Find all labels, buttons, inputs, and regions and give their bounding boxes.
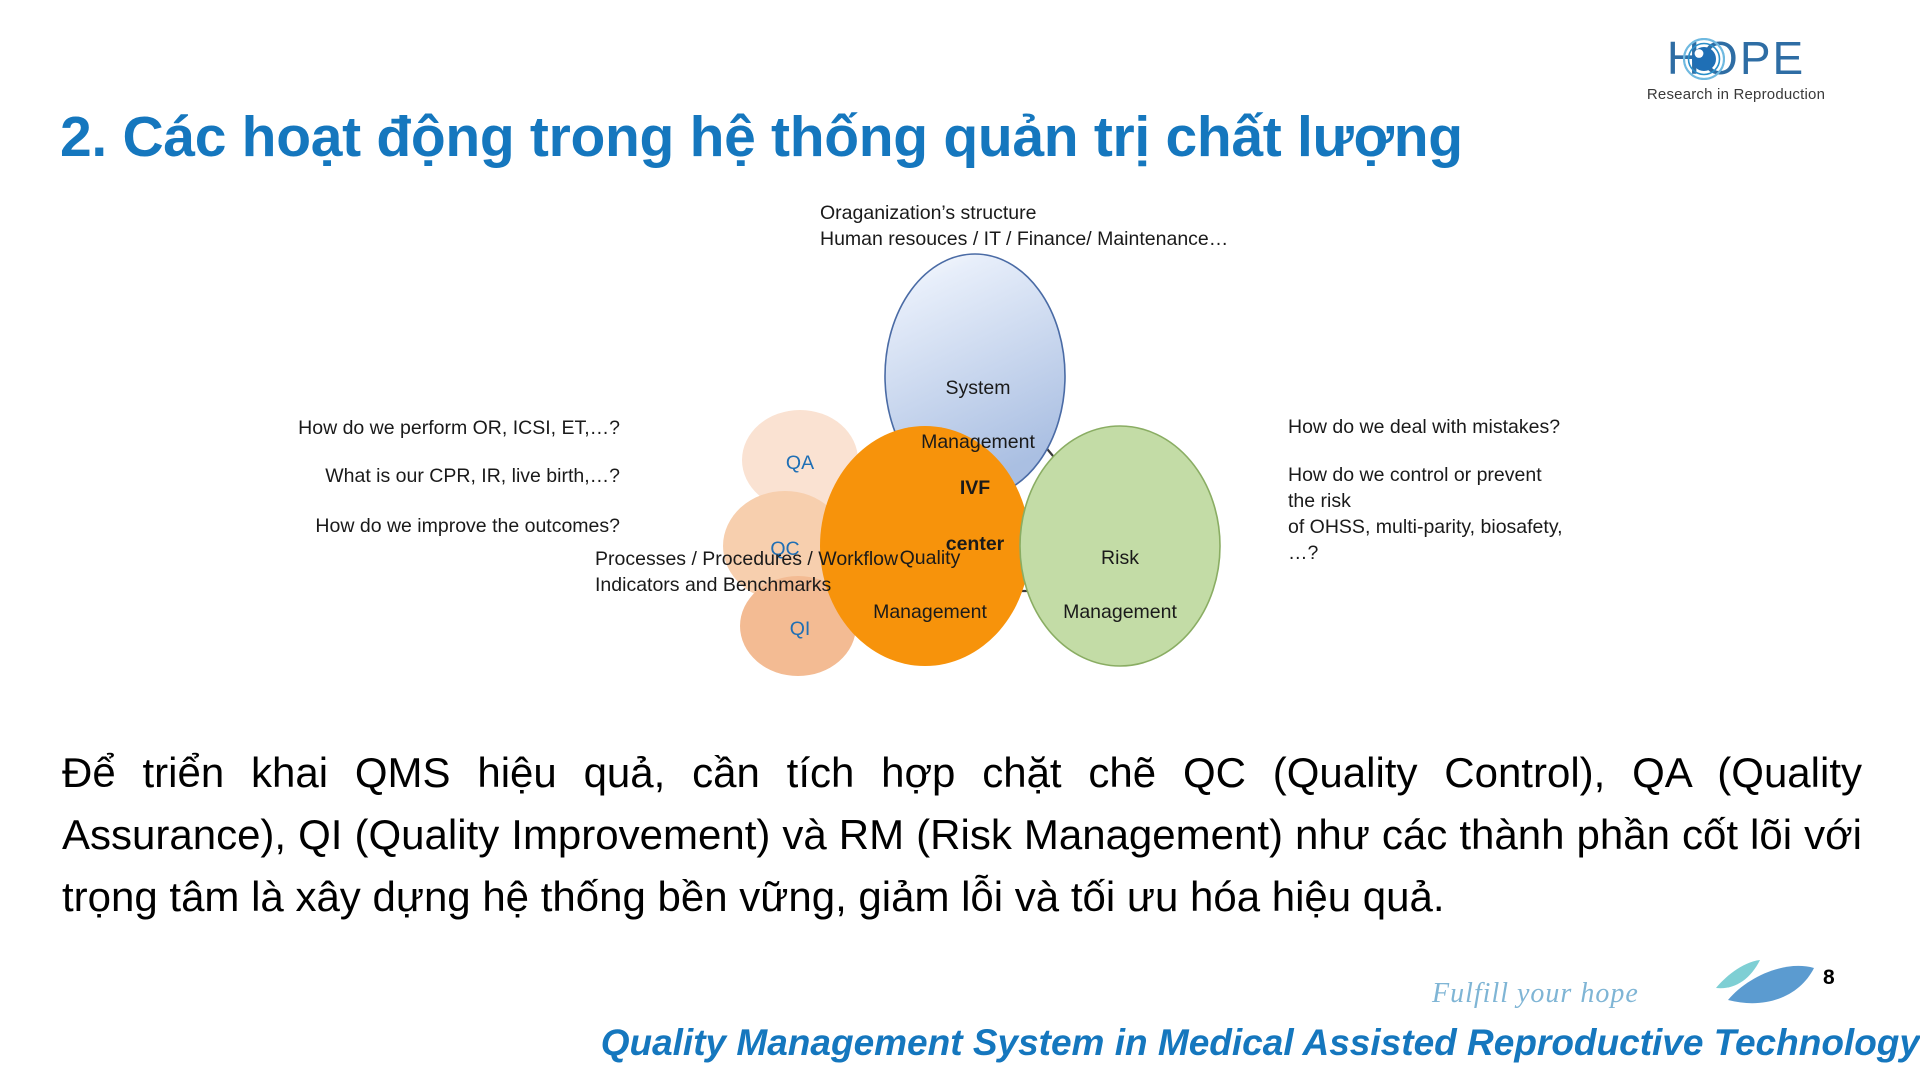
bubble-qi-label: QI: [770, 616, 830, 642]
node-quality-management-label-line2: Management: [855, 599, 1005, 626]
ivf-center-label-line2: center: [935, 530, 1015, 558]
question-right-1: How do we deal with mistakes?: [1288, 414, 1560, 440]
eye-icon: [1683, 38, 1725, 80]
hope-logo-tagline: Research in Reproduction: [1636, 86, 1836, 103]
question-left-2: What is our CPR, IR, live birth,…?: [325, 463, 620, 489]
question-left-1-wrapper: How do we perform OR, ICSI, ET,…?: [320, 389, 620, 441]
bubble-qa-label: QA: [770, 450, 830, 476]
qms-diagram: System Management Quality Management Ris…: [330, 228, 1570, 738]
question-left-3: How do we improve the outcomes?: [315, 513, 620, 539]
ivf-center-label-line1: IVF: [935, 474, 1015, 502]
question-right-2: How do we control or prevent the risk of…: [1288, 462, 1570, 566]
page-number: 8: [1823, 966, 1835, 990]
leaf-logo-icon: [1700, 952, 1830, 1014]
question-left-3-wrapper: How do we improve the outcomes?: [320, 487, 620, 539]
diagram-bottom-caption: Processes / Procedures / Workflow Indica…: [595, 546, 898, 598]
diagram-top-caption: Oraganization’s structure Human resouces…: [820, 200, 1228, 252]
footer-title: Quality Management System in Medical Ass…: [60, 1022, 1920, 1064]
ivf-center-label: IVF center: [935, 446, 1015, 586]
hope-logo: HOPE Research in Reproduction: [1636, 34, 1836, 103]
node-risk-management-label-line2: Management: [1045, 599, 1195, 626]
node-risk-management-label-line1: Risk: [1045, 545, 1195, 572]
node-risk-management-label: Risk Management: [1045, 518, 1195, 653]
fulfill-your-hope-tagline: Fulfill your hope: [1432, 978, 1639, 1010]
node-system-management-label-line1: System: [903, 375, 1053, 402]
body-paragraph: Để triển khai QMS hiệu quả, cần tích hợp…: [62, 742, 1862, 928]
question-left-2-wrapper: What is our CPR, IR, live birth,…?: [320, 437, 620, 489]
page-title: 2. Các hoạt động trong hệ thống quản trị…: [60, 103, 1860, 171]
hope-logo-wordmark: HOPE: [1636, 34, 1836, 84]
